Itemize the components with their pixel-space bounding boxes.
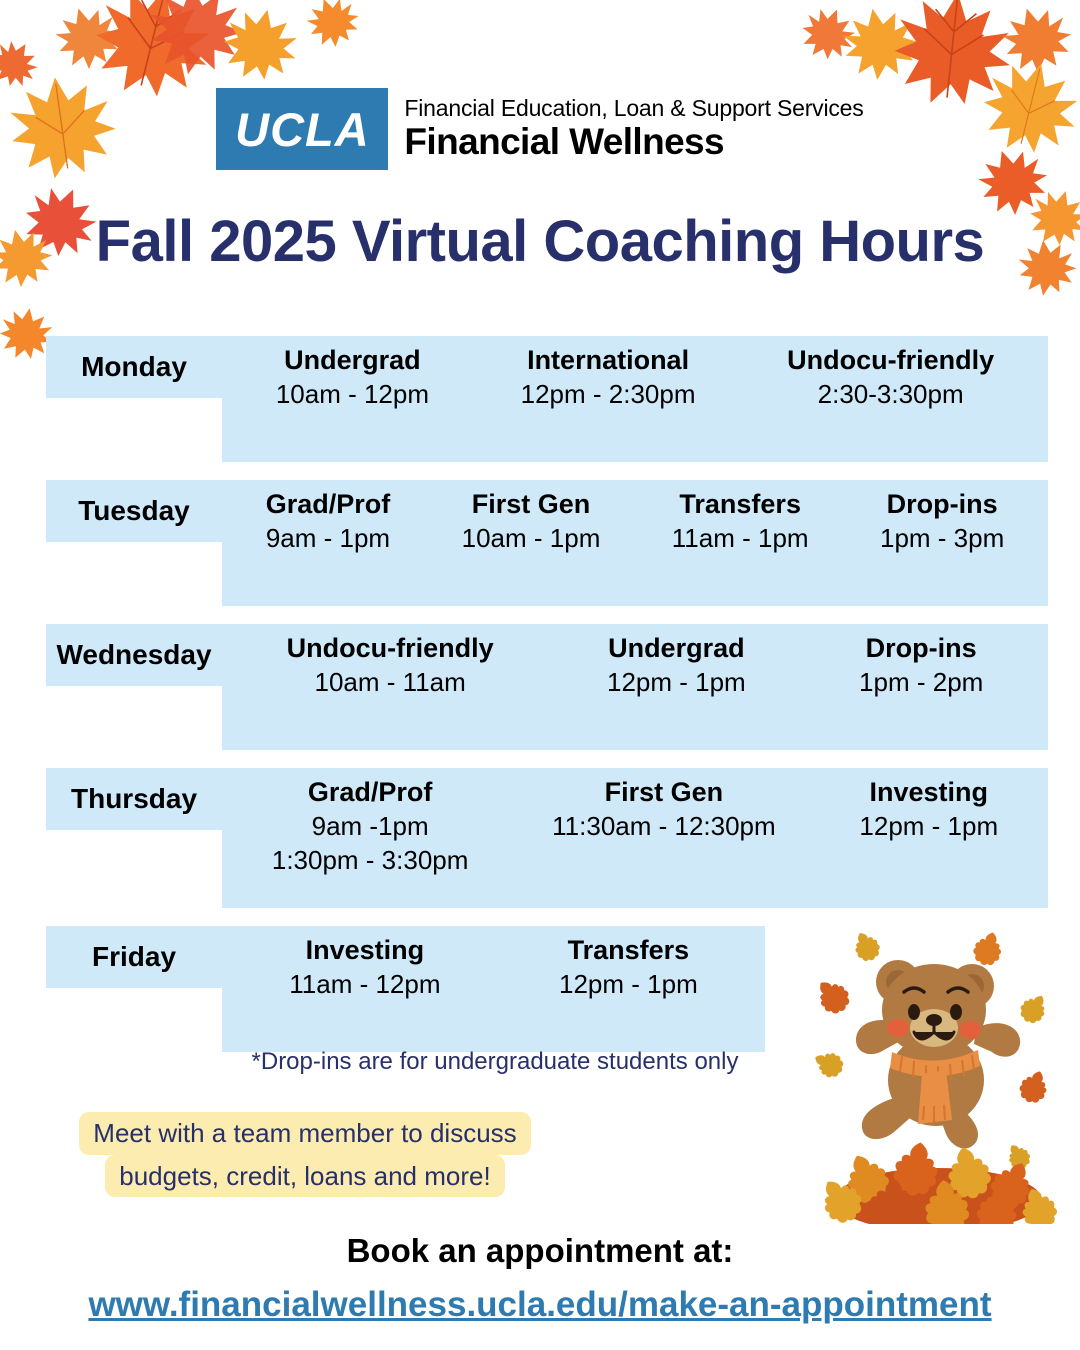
session-list: Undergrad10am - 12pmInternational12pm - … xyxy=(222,336,1048,462)
session-time: 2:30-3:30pm xyxy=(787,378,994,412)
session-cell: International12pm - 2:30pm xyxy=(515,344,702,412)
brand-header: UCLA Financial Education, Loan & Support… xyxy=(0,88,1080,170)
book-appointment-label: Book an appointment at: xyxy=(0,1232,1080,1270)
department-tagline: Financial Education, Loan & Support Serv… xyxy=(404,95,863,121)
session-cell: Undocu-friendly10am - 11am xyxy=(281,632,500,700)
session-name: Undergrad xyxy=(276,344,429,378)
session-time: 12pm - 1pm xyxy=(559,968,698,1002)
session-list: Undocu-friendly10am - 11amUndergrad12pm … xyxy=(222,624,1048,750)
page-title: Fall 2025 Virtual Coaching Hours xyxy=(0,208,1080,275)
ucla-logo-text: UCLA xyxy=(235,102,370,157)
session-cell: Transfers12pm - 1pm xyxy=(553,934,704,1002)
session-time: 10am - 1pm xyxy=(462,522,601,556)
department-name: Financial Wellness xyxy=(404,122,863,163)
session-time: 9am - 1pm xyxy=(266,522,391,556)
session-name: Transfers xyxy=(672,488,809,522)
session-cell: Undergrad10am - 12pm xyxy=(270,344,435,412)
schedule-row: TuesdayGrad/Prof9am - 1pmFirst Gen10am -… xyxy=(0,480,1080,606)
session-list: Grad/Prof9am -1pm1:30pm - 3:30pmFirst Ge… xyxy=(222,768,1048,908)
session-time: 11am - 1pm xyxy=(672,522,809,556)
session-name: Drop-ins xyxy=(880,488,1004,522)
session-name: Transfers xyxy=(559,934,698,968)
day-label-friday: Friday xyxy=(46,926,222,988)
session-time: 9am -1pm xyxy=(272,810,469,844)
session-time: 10am - 11am xyxy=(287,666,494,700)
session-name: First Gen xyxy=(552,776,776,810)
schedule-row: WednesdayUndocu-friendly10am - 11amUnder… xyxy=(0,624,1080,750)
session-cell: Grad/Prof9am - 1pm xyxy=(260,488,397,556)
day-label-wednesday: Wednesday xyxy=(46,624,222,686)
day-label-tuesday: Tuesday xyxy=(46,480,222,542)
session-time: 11am - 12pm xyxy=(289,968,440,1002)
ucla-logo-mark: UCLA xyxy=(216,88,388,170)
session-name: Investing xyxy=(859,776,998,810)
meet-with-team-callout: Meet with a team member to discuss budge… xyxy=(70,1112,540,1197)
session-cell: Undergrad12pm - 1pm xyxy=(601,632,752,700)
session-time: 10am - 12pm xyxy=(276,378,429,412)
session-time: 12pm - 2:30pm xyxy=(521,378,696,412)
session-name: Undocu-friendly xyxy=(287,632,494,666)
session-cell: Grad/Prof9am -1pm1:30pm - 3:30pm xyxy=(266,776,475,877)
schedule-row: FridayInvesting11am - 12pmTransfers12pm … xyxy=(0,926,1080,1052)
session-name: Undergrad xyxy=(607,632,746,666)
session-time: 11:30am - 12:30pm xyxy=(552,810,776,844)
session-cell: Investing11am - 12pm xyxy=(283,934,446,1002)
logo-wordmark: Financial Education, Loan & Support Serv… xyxy=(404,88,863,170)
session-cell: Investing12pm - 1pm xyxy=(853,776,1004,844)
session-cell: Drop-ins1pm - 3pm xyxy=(874,488,1010,556)
session-time: 1:30pm - 3:30pm xyxy=(272,844,469,878)
ucla-financial-wellness-logo: UCLA Financial Education, Loan & Support… xyxy=(216,88,863,170)
session-name: Drop-ins xyxy=(859,632,983,666)
session-time: 12pm - 1pm xyxy=(859,810,998,844)
day-label-thursday: Thursday xyxy=(46,768,222,830)
session-list: Grad/Prof9am - 1pmFirst Gen10am - 1pmTra… xyxy=(222,480,1048,606)
callout-line-1: Meet with a team member to discuss xyxy=(79,1112,530,1155)
session-cell: Undocu-friendly2:30-3:30pm xyxy=(781,344,1000,412)
session-time: 12pm - 1pm xyxy=(607,666,746,700)
callout-line-2: budgets, credit, loans and more! xyxy=(105,1155,504,1198)
appointment-url-link[interactable]: www.financialwellness.ucla.edu/make-an-a… xyxy=(0,1285,1080,1325)
dropins-footnote: *Drop-ins are for undergraduate students… xyxy=(222,1048,768,1076)
session-cell: Transfers11am - 1pm xyxy=(666,488,815,556)
session-time: 1pm - 3pm xyxy=(880,522,1004,556)
leaf-cluster-top-left xyxy=(0,0,366,362)
session-time: 1pm - 2pm xyxy=(859,666,983,700)
session-cell: Drop-ins1pm - 2pm xyxy=(853,632,989,700)
schedule-row: ThursdayGrad/Prof9am -1pm1:30pm - 3:30pm… xyxy=(0,768,1080,908)
session-name: Undocu-friendly xyxy=(787,344,994,378)
session-name: Investing xyxy=(289,934,440,968)
schedule-row: MondayUndergrad10am - 12pmInternational1… xyxy=(0,336,1080,462)
session-name: First Gen xyxy=(462,488,601,522)
session-name: Grad/Prof xyxy=(266,488,391,522)
session-cell: First Gen11:30am - 12:30pm xyxy=(546,776,782,844)
coaching-hours-schedule: MondayUndergrad10am - 12pmInternational1… xyxy=(0,336,1080,1070)
session-name: Grad/Prof xyxy=(272,776,469,810)
session-cell: First Gen10am - 1pm xyxy=(456,488,607,556)
day-label-monday: Monday xyxy=(46,336,222,398)
session-name: International xyxy=(521,344,696,378)
session-list: Investing11am - 12pmTransfers12pm - 1pm xyxy=(222,926,765,1052)
